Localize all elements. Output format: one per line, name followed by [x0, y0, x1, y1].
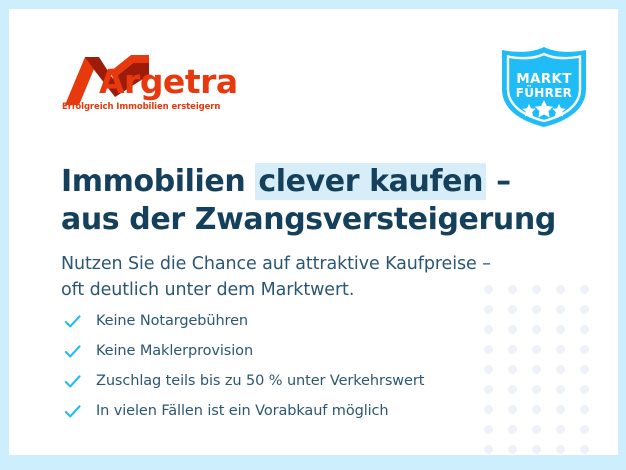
dot [580, 305, 589, 314]
dot [556, 385, 565, 394]
list-item: In vielen Fällen ist ein Vorabkauf mögli… [63, 396, 533, 426]
shield-badge-icon: MARKT FÜHRER [496, 45, 592, 129]
feature-list: Keine Notargebühren Keine Maklerprovisio… [63, 306, 533, 426]
dot [532, 365, 541, 374]
list-item: Keine Maklerprovision [63, 336, 533, 366]
dot [580, 445, 589, 454]
market-leader-badge: MARKT FÜHRER [496, 45, 592, 129]
dot [556, 405, 565, 414]
feature-label: Keine Notargebühren [96, 313, 248, 329]
feature-label: Keine Maklerprovision [96, 343, 253, 359]
dot [556, 305, 565, 314]
logo-mark: Argetra Erfolgreich Immobilien ersteiger… [61, 53, 251, 105]
dot [580, 325, 589, 334]
page-frame: Argetra Erfolgreich Immobilien ersteiger… [0, 0, 626, 470]
dot [556, 445, 565, 454]
dot [556, 325, 565, 334]
dot [532, 385, 541, 394]
headline-highlight: clever kaufen [255, 163, 486, 200]
argetra-logo[interactable]: Argetra Erfolgreich Immobilien ersteiger… [61, 53, 251, 105]
subheading-line-1: Nutzen Sie die Chance auf attraktive Kau… [61, 251, 581, 278]
headline-line-2: aus der Zwangsversteigerung [61, 201, 581, 239]
dot [580, 425, 589, 434]
logo-wordmark: Argetra [99, 65, 238, 98]
dot [532, 425, 541, 434]
dot [580, 405, 589, 414]
feature-label: Zuschlag teils bis zu 50 % unter Verkehr… [96, 373, 424, 389]
check-icon [63, 372, 82, 391]
check-icon [63, 342, 82, 361]
dot [532, 345, 541, 354]
badge-line2: FÜHRER [516, 85, 572, 100]
headline-line-1: Immobilien clever kaufen – [61, 163, 581, 201]
dot [508, 445, 517, 454]
badge-line1: MARKT [516, 71, 572, 87]
page-title: Immobilien clever kaufen – aus der Zwang… [61, 163, 581, 240]
dot [484, 425, 493, 434]
dot [484, 445, 493, 454]
dot [580, 365, 589, 374]
dot [532, 305, 541, 314]
dot [580, 345, 589, 354]
headline-text-after: – [486, 164, 511, 199]
dot [580, 285, 589, 294]
dot [532, 325, 541, 334]
feature-label: In vielen Fällen ist ein Vorabkauf mögli… [96, 403, 389, 419]
subheading-line-2: oft deutlich unter dem Marktwert. [61, 277, 581, 304]
headline-text-before: Immobilien [61, 164, 255, 199]
dot [580, 385, 589, 394]
check-icon [63, 312, 82, 331]
dot [556, 425, 565, 434]
dot [532, 445, 541, 454]
logo-tagline: Erfolgreich Immobilien ersteigern [62, 102, 220, 112]
list-item: Keine Notargebühren [63, 306, 533, 336]
dot [556, 345, 565, 354]
dot [556, 365, 565, 374]
dot [508, 425, 517, 434]
dot [532, 405, 541, 414]
check-icon [63, 402, 82, 421]
banner-card: Argetra Erfolgreich Immobilien ersteiger… [9, 9, 618, 455]
list-item: Zuschlag teils bis zu 50 % unter Verkehr… [63, 366, 533, 396]
subheading: Nutzen Sie die Chance auf attraktive Kau… [61, 251, 581, 304]
